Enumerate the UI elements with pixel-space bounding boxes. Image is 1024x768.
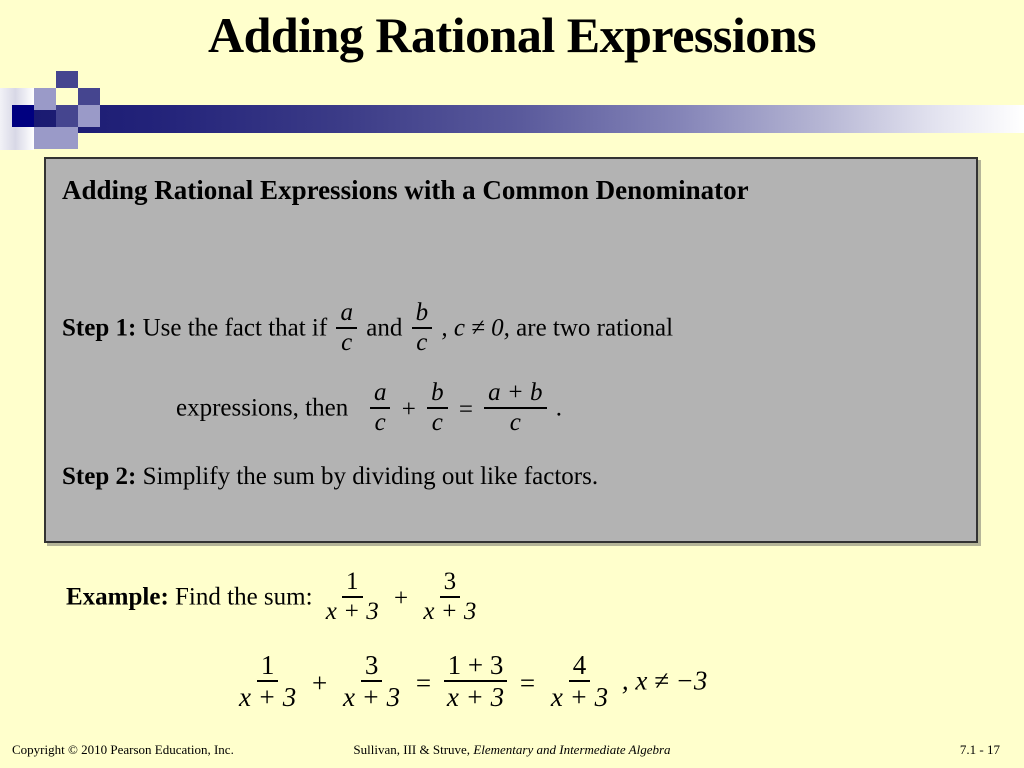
footer-book-title: Elementary and Intermediate Algebra xyxy=(473,742,670,757)
footer-attribution: Sullivan, III & Struve, Elementary and I… xyxy=(0,742,1024,758)
step-1-text-after: are two rational xyxy=(516,315,673,342)
solution-fraction-4: 4 x + 3 xyxy=(547,650,612,712)
step-1-text-and: and xyxy=(366,315,402,342)
plus-operator: + xyxy=(310,668,329,699)
banner-square-navy xyxy=(12,105,34,127)
concept-box: Adding Rational Expressions with a Commo… xyxy=(44,157,978,543)
step-1-label: Step 1: xyxy=(62,315,136,342)
equals-operator-1: = xyxy=(414,668,433,699)
fraction-a-over-c: a c xyxy=(336,299,357,357)
example-prompt: Find the sum: xyxy=(175,584,313,611)
solution-fraction-3: 1 + 3 x + 3 xyxy=(443,650,508,712)
fraction-denominator: x + 3 xyxy=(547,682,612,712)
footer-page-number: 7.1 - 17 xyxy=(960,742,1000,758)
example-fraction-1: 1 x + 3 xyxy=(322,568,383,626)
banner-square-upper-left xyxy=(34,88,56,110)
example-fraction-2: 3 x + 3 xyxy=(419,568,480,626)
step-1: Step 1: Use the fact that if a c and b c… xyxy=(62,301,673,359)
banner-square-lower-left xyxy=(34,127,56,149)
example-label: Example: xyxy=(66,584,169,611)
solution-line: 1 x + 3 + 3 x + 3 = 1 + 3 x + 3 = 4 x + … xyxy=(232,652,707,714)
example-line: Example: Find the sum: 1 x + 3 + 3 x + 3 xyxy=(66,570,483,628)
fraction-denominator: c xyxy=(506,409,525,437)
fraction-numerator: 3 xyxy=(440,568,461,598)
formula-fraction-b-over-c: b c xyxy=(427,379,448,437)
solution-fraction-1: 1 x + 3 xyxy=(235,650,300,712)
fraction-b-over-c: b c xyxy=(412,299,433,357)
plus-operator: + xyxy=(400,394,418,425)
page-title: Adding Rational Expressions xyxy=(0,8,1024,63)
fraction-numerator: 1 xyxy=(342,568,363,598)
step-2: Step 2: Simplify the sum by dividing out… xyxy=(62,461,598,492)
equals-operator-2: = xyxy=(518,668,537,699)
plus-operator: + xyxy=(392,585,410,613)
step-1-continued: expressions, then a c + b c = a + b c . xyxy=(176,381,562,439)
fraction-denominator: x + 3 xyxy=(322,598,383,626)
fraction-denominator: c xyxy=(337,329,356,357)
step-1-continued-text: expressions, then xyxy=(176,395,348,422)
fraction-numerator: 3 xyxy=(361,650,383,682)
fraction-denominator: x + 3 xyxy=(419,598,480,626)
fraction-denominator: c xyxy=(412,329,431,357)
equals-operator: = xyxy=(457,394,475,425)
formula-fraction-sum-over-c: a + b c xyxy=(484,379,546,437)
banner-square-mid-right xyxy=(78,105,100,127)
fraction-numerator: a xyxy=(336,299,357,329)
decorative-banner xyxy=(0,88,1024,160)
footer-authors: Sullivan, III & Struve, xyxy=(353,742,470,757)
banner-square-upper-right xyxy=(78,88,100,105)
fraction-numerator: b xyxy=(412,299,433,329)
footer: Copyright © 2010 Pearson Education, Inc.… xyxy=(0,742,1024,768)
fraction-denominator: c xyxy=(371,409,390,437)
solution-fraction-2: 3 x + 3 xyxy=(339,650,404,712)
banner-square-top xyxy=(56,71,78,88)
solution-restriction: , x ≠ −3 xyxy=(622,665,708,695)
banner-gradient-bar xyxy=(17,105,1024,133)
formula-fraction-a-over-c: a c xyxy=(370,379,391,437)
step-1-condition: , c ≠ 0, xyxy=(441,315,510,342)
fraction-denominator: x + 3 xyxy=(235,682,300,712)
fraction-numerator: a xyxy=(370,379,391,409)
fraction-numerator: b xyxy=(427,379,448,409)
fraction-numerator: 4 xyxy=(569,650,591,682)
fraction-numerator: 1 xyxy=(257,650,279,682)
formula-period: . xyxy=(556,395,562,422)
fraction-denominator: c xyxy=(428,409,447,437)
step-1-text-before: Use the fact that if xyxy=(143,315,328,342)
fraction-denominator: x + 3 xyxy=(339,682,404,712)
step-2-text: Simplify the sum by dividing out like fa… xyxy=(143,463,599,490)
concept-box-heading: Adding Rational Expressions with a Commo… xyxy=(62,171,902,209)
banner-square-lower-mid xyxy=(56,127,78,149)
fraction-denominator: x + 3 xyxy=(443,682,508,712)
banner-square-mid xyxy=(56,105,78,127)
fraction-numerator: 1 + 3 xyxy=(444,650,508,682)
step-2-label: Step 2: xyxy=(62,463,136,490)
fraction-numerator: a + b xyxy=(484,379,546,409)
